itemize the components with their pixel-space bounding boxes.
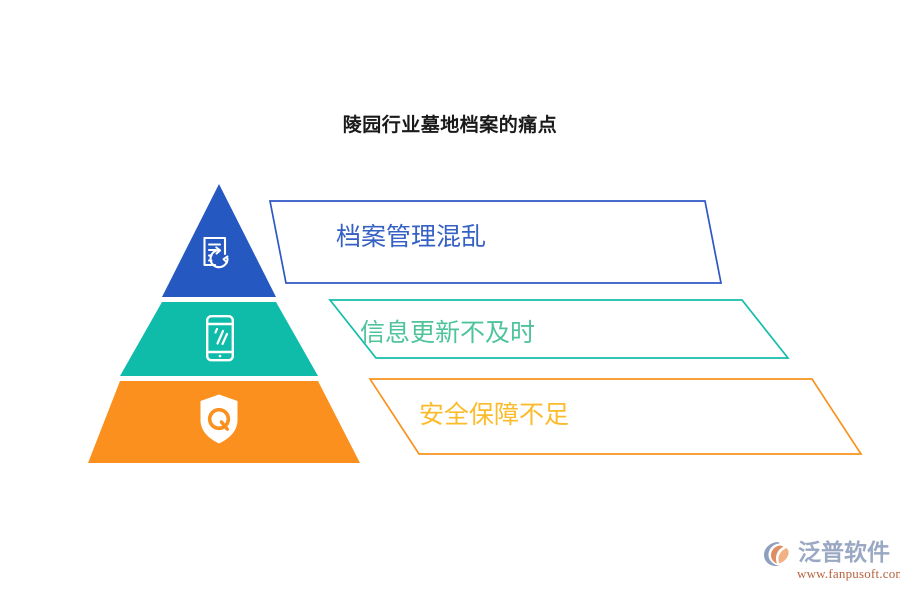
- fanpu-logo-icon: [762, 540, 796, 568]
- band-label-1: 信息更新不及时: [360, 318, 535, 348]
- pyramid-diagram: [0, 0, 900, 600]
- pyramid-tier-teal[interactable]: [120, 302, 318, 376]
- band-label-0: 档案管理混乱: [336, 222, 486, 252]
- pyramid-tier-blue-shape: [162, 184, 276, 297]
- band-label-2: 安全保障不足: [419, 400, 569, 430]
- pyramid-tier-blue[interactable]: [162, 184, 276, 297]
- pyramid-tier-orange[interactable]: [88, 381, 360, 463]
- brand-watermark: 泛普软件 www.fanpusoft.com: [762, 538, 894, 586]
- brand-url: www.fanpusoft.com: [797, 566, 900, 582]
- slide-canvas: 陵园行业墓地档案的痛点: [0, 0, 900, 600]
- brand-name: 泛普软件: [798, 538, 890, 566]
